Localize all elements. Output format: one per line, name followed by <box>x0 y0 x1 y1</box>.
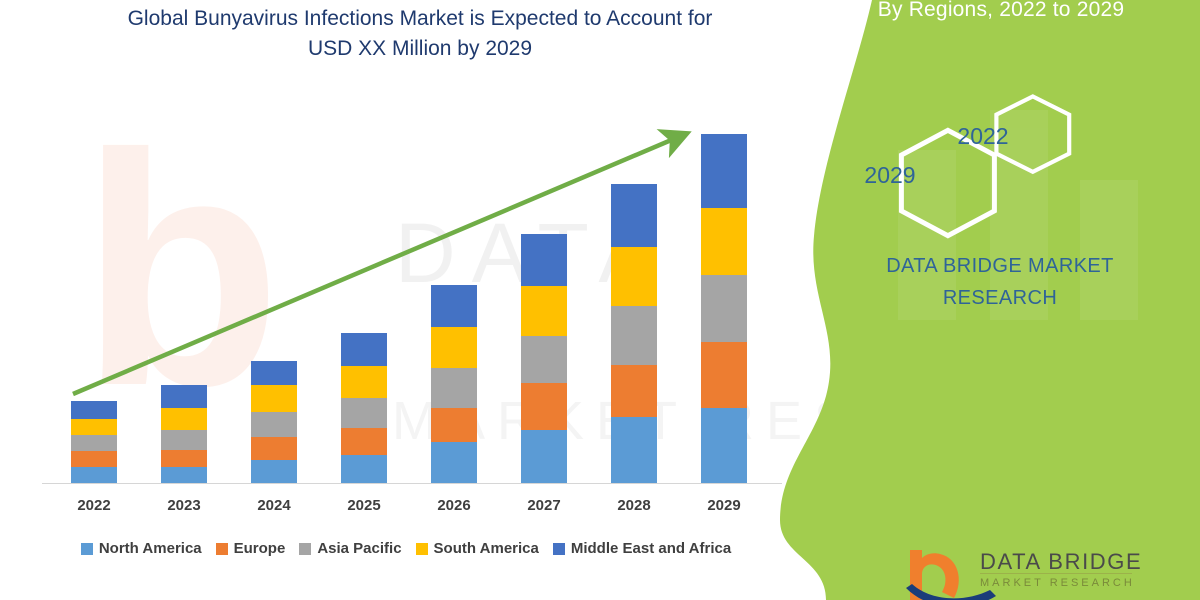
bar-segment[interactable] <box>431 408 477 442</box>
logo-wordmark: DATA BRIDGE <box>980 549 1142 575</box>
bar-segment[interactable] <box>341 333 387 366</box>
bar-2025[interactable] <box>341 333 387 483</box>
bar-segment[interactable] <box>161 408 207 430</box>
bar-segment[interactable] <box>611 417 657 483</box>
bar-segment[interactable] <box>161 385 207 408</box>
bar-segment[interactable] <box>251 361 297 385</box>
panel-heading: By Regions, 2022 to 2029 <box>780 0 1200 22</box>
bar-segment[interactable] <box>161 450 207 467</box>
bar-segment[interactable] <box>251 460 297 483</box>
x-axis-label-2022: 2022 <box>49 497 139 514</box>
legend-item-asia-pacific[interactable]: Asia Pacific <box>299 540 401 557</box>
legend-label: Middle East and Africa <box>571 540 731 557</box>
legend-swatch-icon <box>299 543 311 555</box>
bar-segment[interactable] <box>611 306 657 365</box>
bar-segment[interactable] <box>431 368 477 409</box>
bar-2027[interactable] <box>521 234 567 483</box>
bar-segment[interactable] <box>611 365 657 417</box>
chart-legend: North AmericaEuropeAsia PacificSouth Ame… <box>0 540 812 557</box>
bar-segment[interactable] <box>341 428 387 455</box>
bar-segment[interactable] <box>521 383 567 430</box>
bar-2029[interactable] <box>701 134 747 483</box>
bar-segment[interactable] <box>701 342 747 408</box>
chart-stage: b DATA MARKET RESEARCH Global Bunyavirus… <box>0 0 860 600</box>
bar-segment[interactable] <box>521 234 567 286</box>
legend-item-north-america[interactable]: North America <box>81 540 202 557</box>
bar-segment[interactable] <box>71 419 117 435</box>
bar-segment[interactable] <box>431 327 477 368</box>
bar-segment[interactable] <box>341 366 387 398</box>
bar-segment[interactable] <box>71 401 117 419</box>
x-axis-label-2028: 2028 <box>589 497 679 514</box>
bar-segment[interactable] <box>521 430 567 483</box>
bar-segment[interactable] <box>701 208 747 275</box>
bar-segment[interactable] <box>251 412 297 437</box>
hexagon-label-2022: 2022 <box>918 123 1048 150</box>
bar-segment[interactable] <box>431 285 477 327</box>
plot-area: 20222023202420252026202720282029 <box>0 0 860 600</box>
brand-name-line1: DATA BRIDGE MARKET <box>886 255 1114 277</box>
bar-segment[interactable] <box>161 430 207 450</box>
bar-segment[interactable] <box>251 437 297 460</box>
bar-segment[interactable] <box>521 336 567 383</box>
legend-item-south-america[interactable]: South America <box>416 540 539 557</box>
legend-swatch-icon <box>553 543 565 555</box>
bar-segment[interactable] <box>431 442 477 483</box>
bar-2024[interactable] <box>251 361 297 483</box>
logo-tagline: MARKET RESEARCH <box>980 577 1135 589</box>
legend-item-europe[interactable]: Europe <box>216 540 286 557</box>
bar-segment[interactable] <box>161 467 207 483</box>
bar-segment[interactable] <box>611 184 657 247</box>
hexagon-label-2029: 2029 <box>820 162 960 189</box>
x-axis-label-2027: 2027 <box>499 497 589 514</box>
bar-segment[interactable] <box>611 247 657 306</box>
bar-segment[interactable] <box>701 408 747 483</box>
bar-segment[interactable] <box>71 435 117 451</box>
x-axis-label-2026: 2026 <box>409 497 499 514</box>
brand-name-line2: RESEARCH <box>943 287 1057 309</box>
legend-label: South America <box>434 540 539 557</box>
x-axis-label-2029: 2029 <box>679 497 769 514</box>
bar-2026[interactable] <box>431 285 477 483</box>
legend-label: Europe <box>234 540 286 557</box>
infographic-root: b DATA MARKET RESEARCH Global Bunyavirus… <box>0 0 1200 600</box>
legend-item-middle-east-and-africa[interactable]: Middle East and Africa <box>553 540 731 557</box>
bar-segment[interactable] <box>701 134 747 208</box>
legend-swatch-icon <box>81 543 93 555</box>
legend-swatch-icon <box>416 543 428 555</box>
x-axis-label-2024: 2024 <box>229 497 319 514</box>
bar-segment[interactable] <box>71 451 117 467</box>
bar-segment[interactable] <box>701 275 747 342</box>
bar-segment[interactable] <box>341 398 387 428</box>
x-axis-label-2023: 2023 <box>139 497 229 514</box>
legend-label: Asia Pacific <box>317 540 401 557</box>
legend-label: North America <box>99 540 202 557</box>
brand-name: DATA BRIDGE MARKET RESEARCH <box>780 250 1200 314</box>
bar-2022[interactable] <box>71 401 117 483</box>
bar-2028[interactable] <box>611 184 657 483</box>
bar-2023[interactable] <box>161 385 207 483</box>
legend-swatch-icon <box>216 543 228 555</box>
brand-panel: By Regions, 2022 to 2029 2029 2022 DATA … <box>780 0 1200 600</box>
x-axis-line <box>42 483 782 484</box>
bar-segment[interactable] <box>71 467 117 483</box>
x-axis-label-2025: 2025 <box>319 497 409 514</box>
hexagon-badges: 2029 2022 <box>780 90 1200 250</box>
bar-segment[interactable] <box>341 455 387 483</box>
bar-segment[interactable] <box>521 286 567 336</box>
bar-segment[interactable] <box>251 385 297 412</box>
